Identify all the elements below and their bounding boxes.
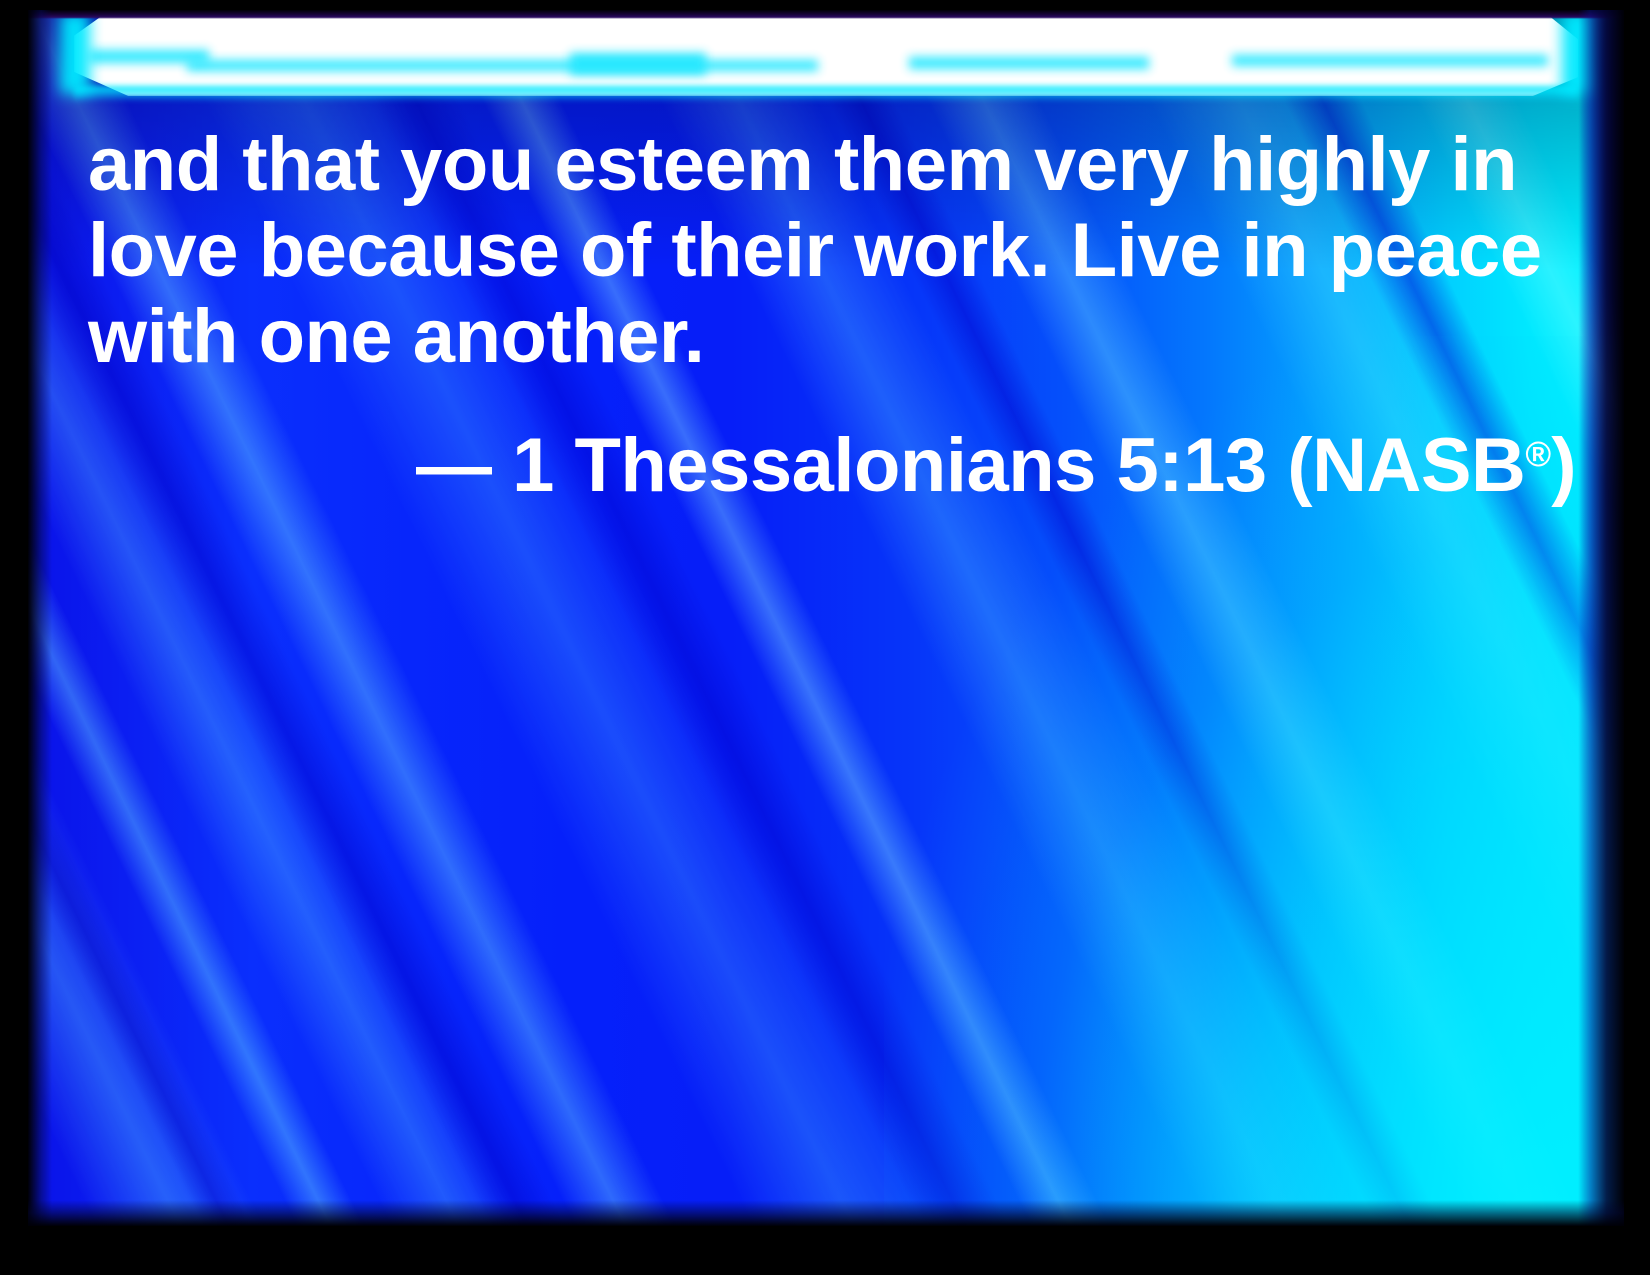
registered-trademark-icon: ® xyxy=(1525,435,1551,474)
slide-canvas: and that you esteem them very highly in … xyxy=(28,10,1624,1226)
verse-text-block: and that you esteem them very highly in … xyxy=(88,122,1588,509)
verse-line-3: with one another. xyxy=(88,294,1588,380)
verse-slide: and that you esteem them very highly in … xyxy=(0,0,1650,1275)
attribution-translation-open: (NASB xyxy=(1287,423,1525,508)
attribution-reference: 1 Thessalonians 5:13 xyxy=(512,423,1267,508)
attribution-translation-close: ) xyxy=(1551,423,1576,508)
verse-attribution: — 1 Thessalonians 5:13 (NASB®) xyxy=(88,412,1588,509)
verse-line-2: love because of their work. Live in peac… xyxy=(88,208,1588,294)
verse-line-1: and that you esteem them very highly in xyxy=(88,122,1588,208)
attribution-dash: — xyxy=(416,423,492,508)
